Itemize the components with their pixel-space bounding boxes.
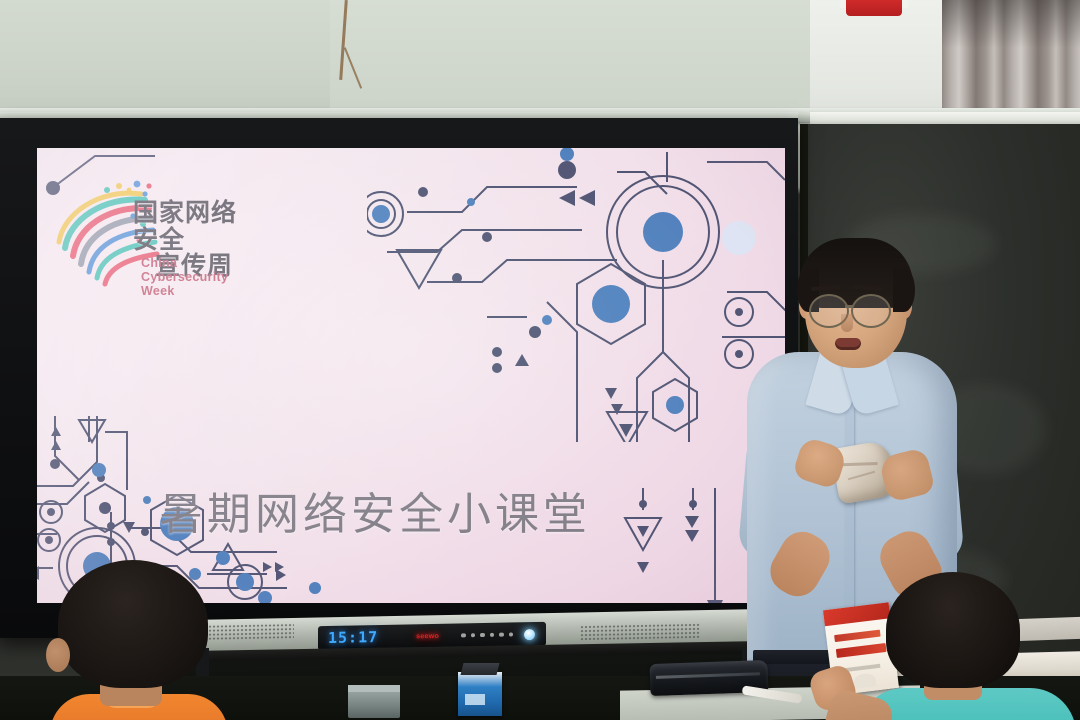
wall-poster-red — [846, 0, 902, 16]
student-right — [840, 572, 1080, 720]
classroom-scene: 国家网络安全 宣传周 China Cybersecurity Week 暑期网络… — [0, 0, 1080, 720]
panel-button-settings[interactable] — [509, 632, 514, 637]
student-left-ear — [46, 638, 70, 672]
logo-subtitle-en: China Cybersecurity Week — [141, 256, 245, 298]
glasses-icon-bridge — [845, 305, 853, 308]
student-left-hair — [58, 560, 208, 688]
teacher-mouth — [835, 338, 861, 350]
teacher-hair-side-right — [893, 268, 915, 312]
grey-box-item — [348, 690, 400, 718]
logo-title-line1: 国家网络安全 — [133, 199, 237, 254]
slide-title: 暑期网络安全小课堂 — [37, 478, 785, 542]
student-right-hair — [886, 572, 1020, 688]
panel-brand-logo: seewo — [416, 632, 439, 639]
slide-title-text: 暑期网络安全小课堂 — [159, 490, 591, 539]
student-left — [40, 560, 230, 720]
speaker-grille-right — [580, 623, 700, 641]
panel-button-row[interactable] — [461, 629, 535, 641]
cybersecurity-week-logo: 国家网络安全 宣传周 China Cybersecurity Week — [45, 180, 245, 298]
circuit-decoration-top-right — [367, 148, 785, 442]
wall-middle-section — [330, 0, 810, 120]
panel-screen[interactable]: 国家网络安全 宣传周 China Cybersecurity Week 暑期网络… — [37, 148, 785, 603]
panel-button-volume-down[interactable] — [480, 633, 485, 638]
panel-button-channel[interactable] — [499, 632, 504, 637]
milk-carton-item — [458, 672, 502, 716]
curtain-shadow — [942, 0, 1080, 120]
power-button-icon[interactable] — [524, 629, 535, 640]
panel-button-source[interactable] — [471, 633, 476, 638]
glasses-icon-right-lens — [851, 294, 891, 328]
teacher-nose — [841, 314, 853, 332]
panel-button-volume-up[interactable] — [490, 633, 495, 638]
panel-button-menu[interactable] — [461, 633, 466, 638]
panel-clock: 15:17 — [328, 628, 378, 647]
